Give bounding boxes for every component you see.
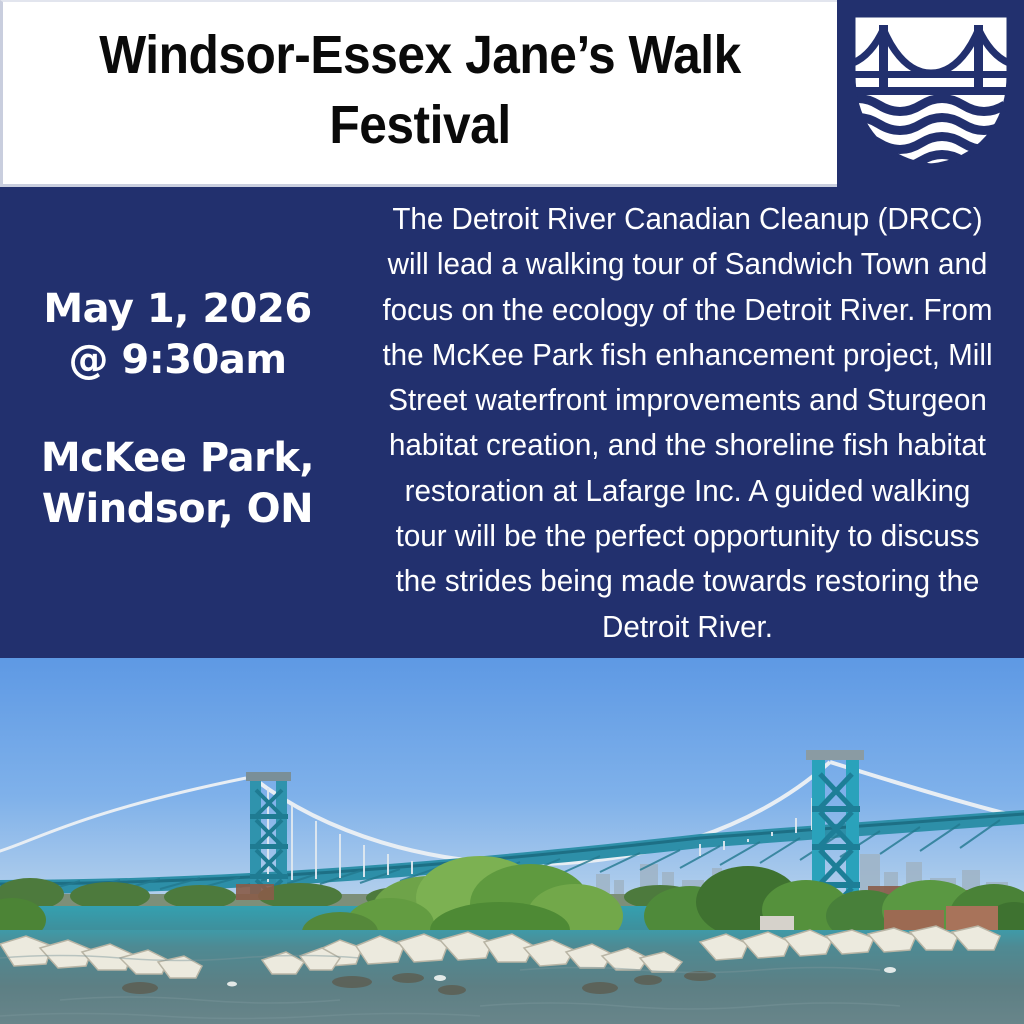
event-poster: Windsor-Essex Jane’s Walk Festival <box>0 0 1024 1024</box>
title-panel: Windsor-Essex Jane’s Walk Festival <box>0 0 837 187</box>
page-title: Windsor-Essex Jane’s Walk Festival <box>64 20 776 160</box>
river-scene-illustration <box>0 658 1024 1024</box>
windsor-essex-bridge-shield-icon <box>847 9 1015 172</box>
event-datetime: May 1, 2026 @ 9:30am <box>43 284 311 386</box>
event-details-column: May 1, 2026 @ 9:30am McKee Park, Windsor… <box>0 187 355 658</box>
poster-header: Windsor-Essex Jane’s Walk Festival <box>0 0 1024 187</box>
event-location: McKee Park, Windsor, ON <box>41 433 314 535</box>
logo-panel <box>837 0 1024 187</box>
ambassador-bridge-photo <box>0 658 1024 1024</box>
event-description-column: The Detroit River Canadian Cleanup (DRCC… <box>355 187 1024 658</box>
poster-body: May 1, 2026 @ 9:30am McKee Park, Windsor… <box>0 187 1024 658</box>
event-description: The Detroit River Canadian Cleanup (DRCC… <box>377 197 999 650</box>
